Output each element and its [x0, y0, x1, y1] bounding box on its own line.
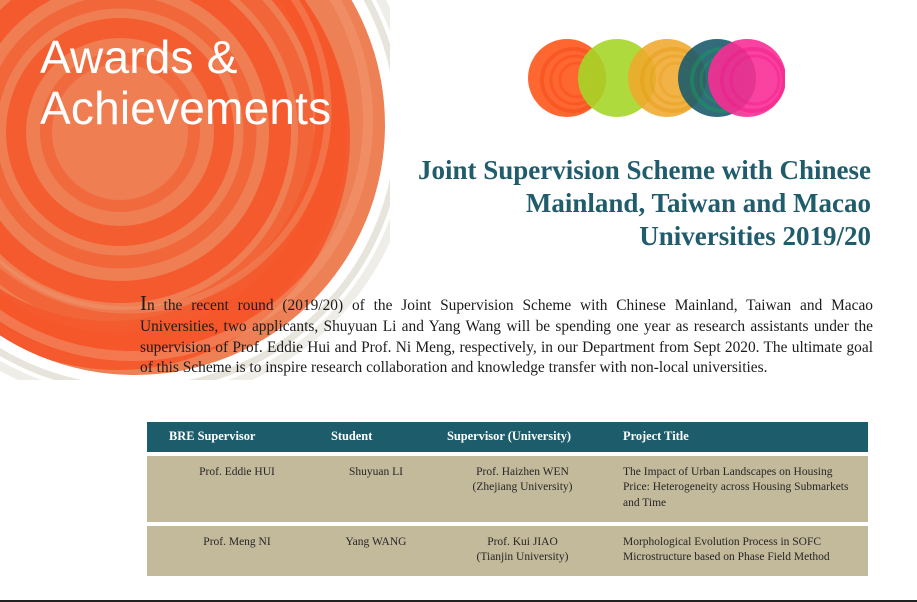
cell-bre-supervisor: Prof. Eddie HUI	[147, 456, 317, 522]
cell-student: Yang WANG	[317, 526, 435, 577]
column-header-project-title: Project Title	[610, 422, 868, 452]
supervisor-name: Prof. Haizhen WEN	[443, 465, 602, 480]
column-header-bre-supervisor: BRE Supervisor	[147, 422, 317, 452]
initial-cap: I	[140, 291, 147, 315]
article-body: In the recent round (2019/20) of the Joi…	[140, 296, 873, 379]
pink-circle	[708, 39, 785, 117]
cell-supervisor-university: Prof. Kui JIAO (Tianjin University)	[435, 526, 610, 577]
column-header-supervisor-university: Supervisor (University)	[435, 422, 610, 452]
cell-project-title: Morphological Evolution Process in SOFC …	[610, 526, 868, 577]
supervisor-university: (Zhejiang University)	[443, 480, 602, 495]
five-circles-brand-logo	[525, 36, 785, 120]
cell-project-title: The Impact of Urban Landscapes on Housin…	[610, 456, 868, 522]
article-body-text: n the recent round (2019/20) of the Join…	[140, 297, 873, 376]
page-title: Awards & Achievements	[40, 32, 400, 133]
article-title: Joint Supervision Scheme with Chinese Ma…	[391, 154, 871, 254]
cell-supervisor-university: Prof. Haizhen WEN (Zhejiang University)	[435, 456, 610, 522]
table-row: Prof. Eddie HUI Shuyuan LI Prof. Haizhen…	[147, 456, 868, 522]
cell-student: Shuyuan LI	[317, 456, 435, 522]
cell-bre-supervisor: Prof. Meng NI	[147, 526, 317, 577]
table-header-row: BRE Supervisor Student Supervisor (Unive…	[147, 422, 868, 452]
joint-supervision-table: BRE Supervisor Student Supervisor (Unive…	[147, 418, 868, 580]
table-row: Prof. Meng NI Yang WANG Prof. Kui JIAO (…	[147, 526, 868, 577]
supervisor-name: Prof. Kui JIAO	[443, 535, 602, 550]
column-header-student: Student	[317, 422, 435, 452]
supervisor-university: (Tianjin University)	[443, 550, 602, 565]
